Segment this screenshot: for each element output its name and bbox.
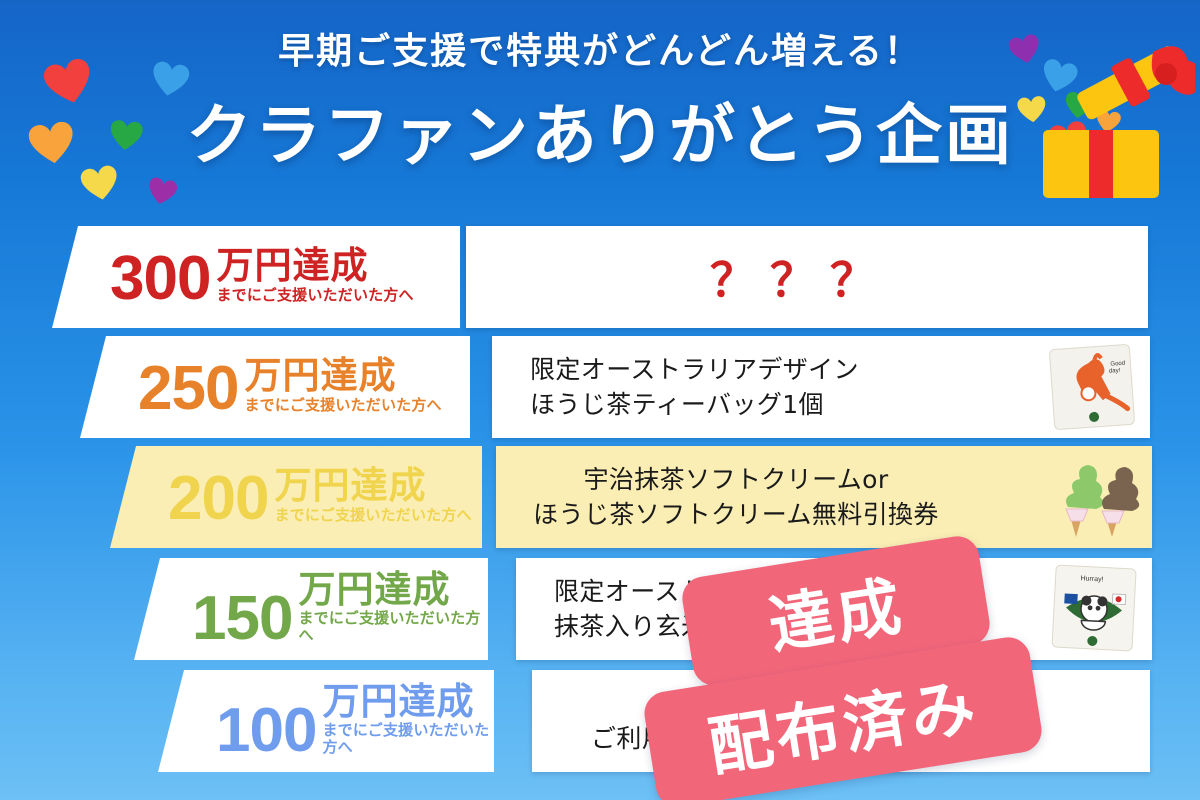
tier-note-label: までにご支援いただいた方へ [322, 722, 494, 755]
heart-icon [108, 118, 143, 153]
tier-amount-panel: 300万円達成までにご支援いただいた方へ [52, 226, 460, 328]
tier-reward-panel: ？？？ [466, 226, 1148, 328]
tier-unit-label: 万円達成 [216, 247, 413, 285]
tier-note-label: までにご支援いただいた方へ [244, 397, 441, 414]
reward-description: 宇治抹茶ソフトクリームor ほうじ茶ソフトクリーム無料引換券 [496, 462, 1046, 533]
heart-icon [149, 59, 191, 101]
tier-amount-value: 300 [110, 250, 210, 307]
tier-reward-panel: 宇治抹茶ソフトクリームor ほうじ茶ソフトクリーム無料引換券 [496, 446, 1152, 548]
heart-icon [27, 119, 77, 169]
heart-icon [145, 175, 178, 208]
tier-note-label: までにご支援いただいた方へ [216, 287, 413, 304]
reward-thumbnail-kangaroo-teabag: Goodday! [1044, 341, 1140, 433]
tier-note-label: までにご支援いただいた方へ [274, 507, 471, 524]
tier-amount-value: 150 [192, 590, 292, 647]
tier-row[interactable]: 300万円達成までにご支援いただいた方へ？？？ [0, 226, 1200, 328]
reward-thumbnail-panda-teabag: Hurray! [1046, 563, 1142, 655]
heart-icon [79, 163, 121, 205]
reward-description: 限定オーストラリアデザイン ほうじ茶ティーバッグ1個 [492, 352, 1044, 423]
tier-amount-value: 100 [216, 702, 316, 759]
tier-amount-value: 200 [168, 470, 268, 527]
tier-note-label: までにご支援いただいた方へ [298, 610, 488, 643]
svg-text:day!: day! [1109, 368, 1121, 375]
tier-row[interactable]: 200万円達成までにご支援いただいた方へ宇治抹茶ソフトクリームor ほうじ茶ソフ… [0, 446, 1200, 548]
svg-text:Hurray!: Hurray! [1080, 575, 1103, 583]
tier-unit-label: 万円達成 [322, 683, 494, 721]
tier-amount-panel: 100万円達成までにご支援いただいた方へ [158, 670, 494, 772]
tier-row[interactable]: 250万円達成までにご支援いただいた方へ限定オーストラリアデザイン ほうじ茶ティ… [0, 336, 1200, 438]
svg-text:Good: Good [1110, 361, 1125, 368]
gift-box-icon [1035, 30, 1195, 205]
tier-amount-panel: 150万円達成までにご支援いただいた方へ [134, 558, 488, 660]
tier-amount-value: 250 [138, 360, 238, 417]
infographic-canvas: 早期ご支援で特典がどんどん増える！ クラファンありがとう企画 300万円達成まで… [0, 0, 1200, 800]
reward-unknown-marks: ？？？ [466, 244, 1148, 310]
reward-thumbnail-soft-serve [1046, 451, 1142, 543]
tier-reward-panel: 限定オーストラリアデザイン ほうじ茶ティーバッグ1個Goodday! [492, 336, 1150, 438]
heart-icon [41, 55, 97, 111]
tier-unit-label: 万円達成 [298, 571, 488, 609]
tier-unit-label: 万円達成 [274, 467, 471, 505]
tier-unit-label: 万円達成 [244, 357, 441, 395]
tier-amount-panel: 200万円達成までにご支援いただいた方へ [110, 446, 482, 548]
tier-amount-panel: 250万円達成までにご支援いただいた方へ [80, 336, 470, 438]
